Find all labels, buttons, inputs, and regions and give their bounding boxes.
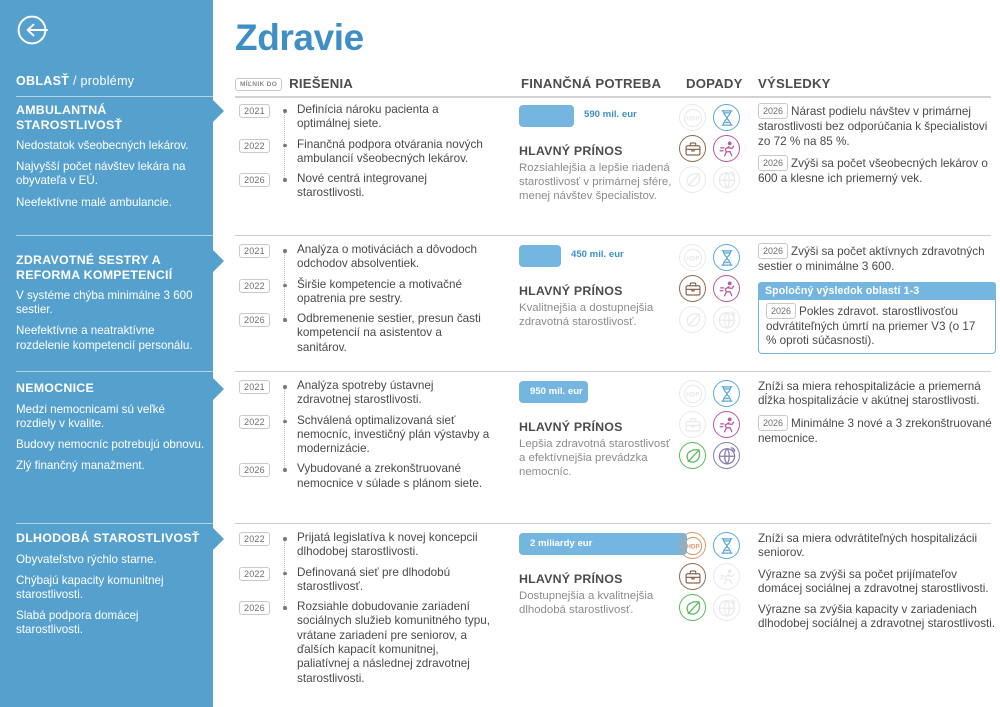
globe-icon bbox=[713, 166, 740, 193]
joint-result-text: Pokles zdravot. starostlivosťou odvrátit… bbox=[766, 305, 975, 348]
col-header-results: VÝSLEDKY bbox=[758, 76, 831, 91]
row-divider bbox=[235, 371, 991, 372]
solution-text: Analýza o motiváciách a dôvodoch odchodo… bbox=[297, 243, 490, 272]
sidebar-problem: V systéme chýba minimálne 3 600 sestier. bbox=[16, 289, 206, 317]
milestone-year: 2022 bbox=[239, 139, 270, 153]
briefcase-icon bbox=[679, 411, 706, 438]
solution-item: 2022Prijatá legislatíva k novej koncepci… bbox=[235, 531, 490, 560]
hourglass-icon bbox=[713, 532, 740, 559]
solution-item: 2021Definícia nároku pacienta a optimáln… bbox=[235, 103, 490, 132]
result-item: 2026Nárast podielu návštev v primárnej s… bbox=[758, 104, 996, 149]
sidebar-section[interactable]: NEMOCNICEMedzi nemocnicami sú veľké rozd… bbox=[16, 381, 206, 480]
svg-text:HDP: HDP bbox=[686, 115, 700, 122]
sidebar-problem: Zlý finančný manažment. bbox=[16, 459, 206, 473]
result-text: Výrazne sa zvýšia kapacity v zariadeniac… bbox=[758, 603, 995, 630]
sidebar-problem: Obyvateľstvo rýchlo starne. bbox=[16, 553, 206, 567]
col-header-impacts: DOPADY bbox=[686, 76, 743, 91]
sidebar-pointer-arrow bbox=[213, 100, 224, 122]
sidebar-section[interactable]: DLHODOBÁ STAROSTLIVOSŤObyvateľstvo rýchl… bbox=[16, 531, 206, 645]
solution-item: 2026Rozsiahle dobudovanie zariadení soci… bbox=[235, 600, 490, 686]
impacts-block: HDP bbox=[679, 244, 749, 337]
result-item: Výrazne sa zvýšia kapacity v zariadeniac… bbox=[758, 603, 996, 632]
solutions-list: 2021Analýza o motiváciách a dôvodoch odc… bbox=[235, 243, 490, 361]
benefit-text: Rozsiahlejšia a lepšie riadená starostli… bbox=[519, 161, 679, 204]
milestone-year: 2026 bbox=[239, 313, 270, 327]
benefit-text: Kvalitnejšia a dostupnejšia zdravotná st… bbox=[519, 301, 679, 329]
joint-result-year: 2026 bbox=[766, 303, 796, 319]
milestone-year: 2022 bbox=[239, 532, 270, 546]
solution-text: Schválená optimalizovaná sieť nemocníc, … bbox=[297, 414, 490, 457]
finance-amount: 450 mil. eur bbox=[571, 249, 624, 260]
solution-item: 2022Definovaná sieť pre dlhodobú starost… bbox=[235, 566, 490, 595]
leaf-icon bbox=[679, 594, 706, 621]
bullet-dot bbox=[283, 420, 287, 424]
bullet-dot bbox=[283, 284, 287, 288]
milestone-year: 2021 bbox=[239, 244, 270, 258]
benefit-label: HLAVNÝ PRÍNOS bbox=[519, 572, 679, 586]
running-person-icon bbox=[713, 275, 740, 302]
row-divider bbox=[235, 235, 991, 236]
result-year: 2026 bbox=[758, 155, 788, 171]
col-header-solutions-label: RIEŠENIA bbox=[289, 76, 353, 91]
milestone-year: 2021 bbox=[239, 104, 270, 118]
milestone-year: 2022 bbox=[239, 415, 270, 429]
results-block: Zníži sa miera rehospitalizácie a prieme… bbox=[758, 380, 996, 453]
sidebar-divider bbox=[16, 371, 213, 372]
solution-text: Definovaná sieť pre dlhodobú starostlivo… bbox=[297, 566, 490, 595]
solution-item: 2026Odbremenenie sestier, presun časti k… bbox=[235, 312, 490, 355]
solution-text: Finančná podpora otvárania nových ambula… bbox=[297, 138, 490, 167]
sidebar-pointer-arrow bbox=[213, 250, 224, 272]
result-item: Zníži sa miera rehospitalizácie a prieme… bbox=[758, 380, 996, 409]
sidebar-problem: Neefektívne a neatraktívne rozdelenie ko… bbox=[16, 324, 206, 352]
impact-icon-grid: HDP bbox=[679, 244, 749, 337]
briefcase-icon bbox=[679, 563, 706, 590]
result-year: 2026 bbox=[758, 103, 788, 119]
sidebar-divider bbox=[16, 523, 213, 524]
sidebar-area-title: NEMOCNICE bbox=[16, 381, 206, 396]
leaf-icon bbox=[679, 306, 706, 333]
result-item: 2026Zvýši sa počet aktívnych zdravotných… bbox=[758, 244, 996, 275]
sidebar-header-sep: / bbox=[69, 74, 80, 88]
bullet-dot bbox=[283, 178, 287, 182]
joint-result-callout: Spoločný výsledok oblastí 1-32026Pokles … bbox=[758, 282, 996, 355]
solutions-list: 2022Prijatá legislatíva k novej koncepci… bbox=[235, 531, 490, 692]
impacts-block: HDP bbox=[679, 532, 749, 625]
result-year: 2026 bbox=[758, 415, 788, 431]
sidebar-section[interactable]: ZDRAVOTNÉ SESTRY A REFORMA KOMPETENCIÍV … bbox=[16, 253, 206, 360]
hdp-icon: HDP bbox=[679, 532, 706, 559]
result-text: Zníži sa miera odvrátiteľných hospitaliz… bbox=[758, 532, 977, 559]
sidebar-pointer-arrow bbox=[213, 378, 224, 400]
briefcase-icon bbox=[679, 275, 706, 302]
bullet-dot bbox=[283, 144, 287, 148]
milestone-year: 2026 bbox=[239, 173, 270, 187]
result-item: Výrazne sa zvýši sa počet prijímateľov d… bbox=[758, 568, 996, 597]
solution-text: Definícia nároku pacienta a optimálnej s… bbox=[297, 103, 490, 132]
hourglass-icon bbox=[713, 104, 740, 131]
finance-block: 590 mil. eurHLAVNÝ PRÍNOSRozsiahlejšia a… bbox=[519, 105, 679, 204]
sidebar-pointer-arrow bbox=[213, 528, 224, 550]
solution-text: Analýza spotreby ústavnej zdravotnej sta… bbox=[297, 379, 490, 408]
sidebar-problem: Nedostatok všeobecných lekárov. bbox=[16, 139, 206, 153]
sidebar-problem: Slabá podpora domácej starostlivosti. bbox=[16, 609, 206, 637]
solutions-list: 2021Analýza spotreby ústavnej zdravotnej… bbox=[235, 379, 490, 497]
bullet-dot bbox=[283, 109, 287, 113]
sidebar-section[interactable]: AMBULANTNÁ STAROSTLIVOSŤNedostatok všeob… bbox=[16, 103, 206, 217]
row-divider bbox=[235, 523, 991, 524]
running-person-icon bbox=[713, 135, 740, 162]
sidebar-area-title: DLHODOBÁ STAROSTLIVOSŤ bbox=[16, 531, 206, 546]
impacts-block: HDP bbox=[679, 104, 749, 197]
globe-icon bbox=[713, 306, 740, 333]
results-block: Zníži sa miera odvrátiteľných hospitaliz… bbox=[758, 532, 996, 639]
milestone-year: 2022 bbox=[239, 279, 270, 293]
solution-text: Odbremenenie sestier, presun časti kompe… bbox=[297, 312, 490, 355]
sidebar-problem: Neefektívne malé ambulancie. bbox=[16, 196, 206, 210]
benefit-text: Lepšia zdravotná starostlivosť a efektív… bbox=[519, 437, 679, 480]
results-block: 2026Zvýši sa počet aktívnych zdravotných… bbox=[758, 244, 996, 354]
solution-item: 2022Schválená optimalizovaná sieť nemocn… bbox=[235, 414, 490, 457]
bullet-dot bbox=[283, 249, 287, 253]
solutions-list: 2021Definícia nároku pacienta a optimáln… bbox=[235, 103, 490, 207]
milestone-year: 2021 bbox=[239, 380, 270, 394]
finance-bar: 2 miliardy eur bbox=[519, 533, 687, 555]
benefit-label: HLAVNÝ PRÍNOS bbox=[519, 144, 679, 158]
impact-icon-grid: HDP bbox=[679, 532, 749, 625]
leaf-icon bbox=[679, 166, 706, 193]
solution-text: Širšie kompetencie a motivačné opatrenia… bbox=[297, 278, 490, 307]
result-item: Zníži sa miera odvrátiteľných hospitaliz… bbox=[758, 532, 996, 561]
solution-text: Rozsiahle dobudovanie zariadení sociálny… bbox=[297, 600, 490, 686]
result-text: Minimálne 3 nové a 3 zrekonštruované nem… bbox=[758, 417, 992, 445]
hdp-icon: HDP bbox=[679, 244, 706, 271]
finance-amount: 950 mil. eur bbox=[530, 386, 583, 397]
finance-bar: 450 mil. eur bbox=[519, 245, 561, 267]
result-text: Nárast podielu návštev v primárnej staro… bbox=[758, 105, 987, 148]
result-text: Výrazne sa zvýši sa počet prijímateľov d… bbox=[758, 568, 989, 595]
finance-bar: 590 mil. eur bbox=[519, 105, 574, 127]
svg-text:HDP: HDP bbox=[686, 255, 700, 262]
svg-text:HDP: HDP bbox=[686, 543, 700, 550]
sidebar-header-light: problémy bbox=[81, 74, 135, 88]
hdp-icon: HDP bbox=[679, 380, 706, 407]
svg-text:HDP: HDP bbox=[686, 391, 700, 398]
sidebar-problem: Najvyšší počet návštev lekára na obyvate… bbox=[16, 160, 206, 188]
finance-block: 450 mil. eurHLAVNÝ PRÍNOSKvalitnejšia a … bbox=[519, 245, 679, 329]
col-header-finance: FINANČNÁ POTREBA bbox=[521, 76, 661, 91]
sidebar-area-title: AMBULANTNÁ STAROSTLIVOSŤ bbox=[16, 103, 206, 132]
finance-amount: 590 mil. eur bbox=[584, 109, 637, 120]
sidebar-divider bbox=[16, 235, 213, 236]
col-header-solutions: MÍĽNIK DORIEŠENIA bbox=[235, 76, 353, 91]
milestone-year: 2022 bbox=[239, 567, 270, 581]
bullet-dot bbox=[283, 385, 287, 389]
sidebar-header: OBLASŤ / problémy bbox=[16, 74, 206, 88]
hourglass-icon bbox=[713, 380, 740, 407]
sidebar-problem: Medzi nemocnicami sú veľké rozdiely v kv… bbox=[16, 403, 206, 431]
solution-text: Prijatá legislatíva k novej koncepcii dl… bbox=[297, 531, 490, 560]
bullet-dot bbox=[283, 606, 287, 610]
sidebar: OBLASŤ / problémy AMBULANTNÁ STAROSTLIVO… bbox=[0, 0, 213, 707]
bullet-dot bbox=[283, 468, 287, 472]
sidebar-header-bold: OBLASŤ bbox=[16, 74, 69, 88]
finance-block: 950 mil. eurHLAVNÝ PRÍNOSLepšia zdravotn… bbox=[519, 381, 679, 480]
hourglass-icon bbox=[713, 244, 740, 271]
impacts-block: HDP bbox=[679, 380, 749, 473]
solution-item: 2022Finančná podpora otvárania nových am… bbox=[235, 138, 490, 167]
sidebar-divider bbox=[16, 96, 213, 97]
solution-item: 2021Analýza o motiváciách a dôvodoch odc… bbox=[235, 243, 490, 272]
back-arrow-circle-icon[interactable] bbox=[15, 13, 49, 47]
milestone-year: 2026 bbox=[239, 463, 270, 477]
running-person-icon bbox=[713, 411, 740, 438]
solution-item: 2021Analýza spotreby ústavnej zdravotnej… bbox=[235, 379, 490, 408]
main-content: Zdravie MÍĽNIK DORIEŠENIA FINANČNÁ POTRE… bbox=[213, 0, 1000, 707]
briefcase-icon bbox=[679, 135, 706, 162]
finance-bar: 950 mil. eur bbox=[519, 381, 588, 403]
header-divider bbox=[235, 96, 991, 98]
milestone-year: 2026 bbox=[239, 601, 270, 615]
result-text: Zvýši sa počet všeobecných lekárov o 600… bbox=[758, 157, 988, 185]
results-block: 2026Nárast podielu návštev v primárnej s… bbox=[758, 104, 996, 193]
globe-icon bbox=[713, 594, 740, 621]
sidebar-problem: Chýbajú kapacity komunitnej starostlivos… bbox=[16, 574, 206, 602]
finance-amount: 2 miliardy eur bbox=[530, 538, 592, 549]
globe-icon bbox=[713, 442, 740, 469]
infographic-page: OBLASŤ / problémy AMBULANTNÁ STAROSTLIVO… bbox=[0, 0, 1000, 707]
result-text: Zníži sa miera rehospitalizácie a prieme… bbox=[758, 380, 981, 407]
sidebar-problem: Budovy nemocníc potrebujú obnovu. bbox=[16, 438, 206, 452]
impact-icon-grid: HDP bbox=[679, 104, 749, 197]
benefit-label: HLAVNÝ PRÍNOS bbox=[519, 284, 679, 298]
benefit-text: Dostupnejšia a kvalitnejšia dlhodobá sta… bbox=[519, 589, 679, 617]
page-title: Zdravie bbox=[235, 17, 364, 59]
bullet-dot bbox=[283, 318, 287, 322]
joint-result-header: Spoločný výsledok oblastí 1-3 bbox=[758, 282, 996, 300]
finance-block: 2 miliardy eurHLAVNÝ PRÍNOSDostupnejšia … bbox=[519, 533, 679, 617]
result-text: Zvýši sa počet aktívnych zdravotných ses… bbox=[758, 245, 985, 273]
bullet-dot bbox=[283, 537, 287, 541]
result-year: 2026 bbox=[758, 243, 788, 259]
leaf-icon bbox=[679, 442, 706, 469]
solution-item: 2026Vybudované a zrekonštruované nemocni… bbox=[235, 462, 490, 491]
solution-item: 2026Nové centrá integrovanej starostlivo… bbox=[235, 172, 490, 201]
sidebar-area-title: ZDRAVOTNÉ SESTRY A REFORMA KOMPETENCIÍ bbox=[16, 253, 206, 282]
solution-text: Nové centrá integrovanej starostlivosti. bbox=[297, 172, 490, 201]
solution-item: 2022Širšie kompetencie a motivačné opatr… bbox=[235, 278, 490, 307]
solution-text: Vybudované a zrekonštruované nemocnice v… bbox=[297, 462, 490, 491]
impact-icon-grid: HDP bbox=[679, 380, 749, 473]
running-person-icon bbox=[713, 563, 740, 590]
joint-result-body: 2026Pokles zdravot. starostlivosťou odvr… bbox=[758, 300, 996, 355]
milestone-badge: MÍĽNIK DO bbox=[235, 78, 282, 91]
benefit-label: HLAVNÝ PRÍNOS bbox=[519, 420, 679, 434]
result-item: 2026Zvýši sa počet všeobecných lekárov o… bbox=[758, 156, 996, 187]
hdp-icon: HDP bbox=[679, 104, 706, 131]
bullet-dot bbox=[283, 572, 287, 576]
result-item: 2026Minimálne 3 nové a 3 zrekonštruované… bbox=[758, 416, 996, 447]
